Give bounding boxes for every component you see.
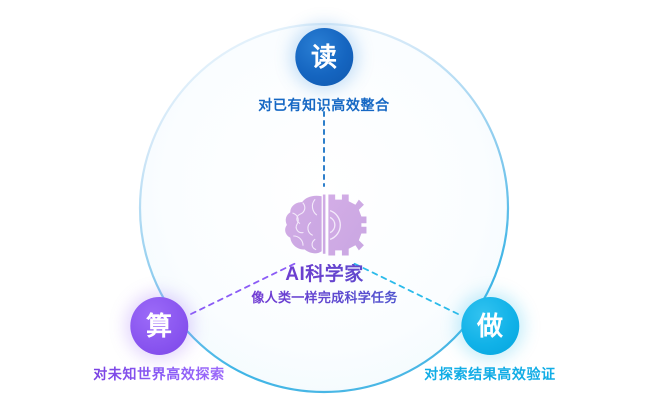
node-do[interactable]: 做 对探索结果高效验证 [424,297,555,384]
center-title: AI科学家 [175,264,475,286]
node-read-label: 对已有知识高效整合 [258,95,389,115]
node-compute[interactable]: 算 对未知世界高效探索 [93,297,224,384]
gear-half [328,195,366,256]
icon-divider [322,195,325,254]
diagram-canvas: AI科学家 像人类一样完成科学任务 读 对已有知识高效整合 算 对未知世界高效探… [0,0,649,418]
center-cluster: AI科学家 像人类一样完成科学任务 [175,192,475,307]
brain-gear-icon [282,192,368,258]
node-do-badge[interactable]: 做 [461,297,519,355]
node-read[interactable]: 读 对已有知识高效整合 [258,28,389,115]
node-do-label: 对探索结果高效验证 [424,364,555,384]
node-compute-label: 对未知世界高效探索 [93,364,224,384]
node-read-badge[interactable]: 读 [295,28,353,86]
node-compute-badge[interactable]: 算 [130,297,188,355]
